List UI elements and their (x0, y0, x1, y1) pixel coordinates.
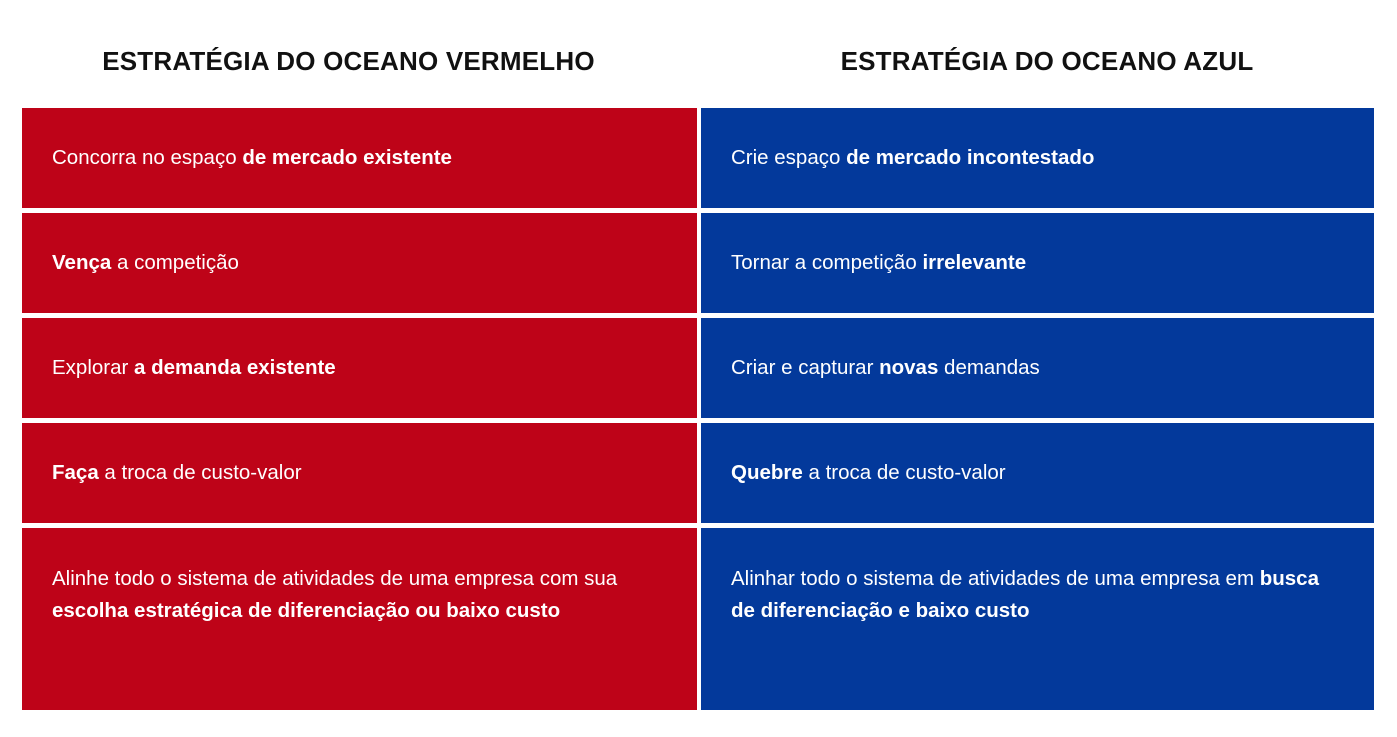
row-text: Criar e capturar novas demandas (731, 352, 1040, 384)
table-row: Concorra no espaço de mercado existente (22, 108, 697, 208)
row-text: Tornar a competição irrelevante (731, 247, 1026, 279)
row-text: Quebre a troca de custo-valor (731, 457, 1006, 489)
row-text: Alinhe todo o sistema de atividades de u… (52, 563, 667, 628)
column-headers: ESTRATÉGIA DO OCEANO VERMELHO ESTRATÉGIA… (0, 0, 1397, 96)
page-title-red-ocean: ESTRATÉGIA DO OCEANO VERMELHO (102, 47, 595, 76)
row-text: Faça a troca de custo-valor (52, 457, 302, 489)
row-text: Concorra no espaço de mercado existente (52, 142, 452, 174)
row-text: Alinhar todo o sistema de atividades de … (731, 563, 1344, 628)
table-row: Tornar a competição irrelevante (701, 213, 1374, 313)
row-text: Vença a competição (52, 247, 239, 279)
column-blue-ocean: Crie espaço de mercado incontestado Torn… (701, 108, 1374, 707)
column-red-ocean: Concorra no espaço de mercado existente … (22, 108, 697, 707)
table-row: Criar e capturar novas demandas (701, 318, 1374, 418)
comparison-page: ESTRATÉGIA DO OCEANO VERMELHO ESTRATÉGIA… (0, 0, 1397, 737)
header-cell-blue-ocean: ESTRATÉGIA DO OCEANO AZUL (697, 0, 1397, 96)
row-text: Explorar a demanda existente (52, 352, 336, 384)
page-title-blue-ocean: ESTRATÉGIA DO OCEANO AZUL (841, 47, 1254, 76)
table-row: Faça a troca de custo-valor (22, 423, 697, 523)
table-row: Alinhe todo o sistema de atividades de u… (22, 528, 697, 710)
table-row: Alinhar todo o sistema de atividades de … (701, 528, 1374, 710)
table-row: Vença a competição (22, 213, 697, 313)
table-row: Crie espaço de mercado incontestado (701, 108, 1374, 208)
header-cell-red-ocean: ESTRATÉGIA DO OCEANO VERMELHO (0, 0, 697, 96)
table-row: Quebre a troca de custo-valor (701, 423, 1374, 523)
strategy-comparison-table: Concorra no espaço de mercado existente … (22, 108, 1374, 707)
row-text: Crie espaço de mercado incontestado (731, 142, 1094, 174)
table-row: Explorar a demanda existente (22, 318, 697, 418)
